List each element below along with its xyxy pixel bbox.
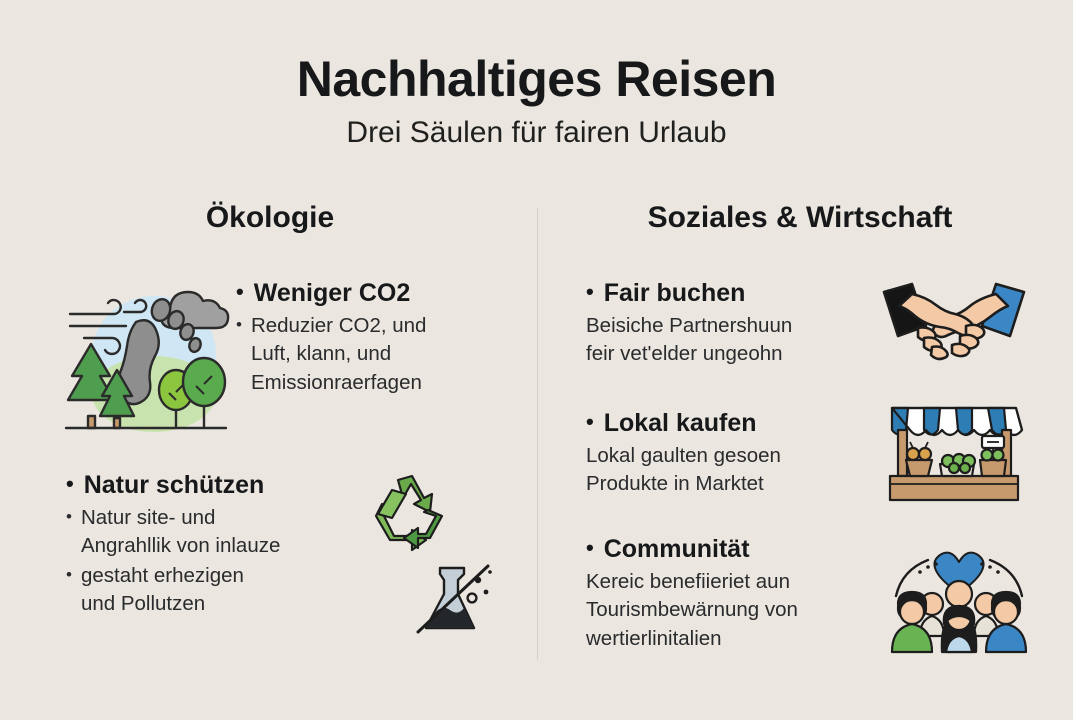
block-communitaet: • Communität Kereic benefiieriet aun Tou… — [586, 534, 886, 654]
list-item-text: Kereic benefiieriet aun Tourismbewärnung… — [586, 568, 798, 653]
bullet-icon: • — [66, 562, 72, 588]
no-pollution-flask-illustration — [412, 558, 498, 644]
list-item: Lokal gaulten gesoen Produkte in Marktet — [586, 442, 876, 499]
column-social-economy: Soziales & Wirtschaft — [560, 200, 1060, 244]
bullet-icon: • — [66, 504, 72, 530]
block-title-text: Fair buchen — [604, 278, 746, 308]
column-heading-social-economy: Soziales & Wirtschaft — [560, 200, 1060, 236]
block-title-fair-buchen: • Fair buchen — [586, 278, 876, 308]
list-item-text: Natur site- und Angrahllik von inlauze — [81, 504, 280, 561]
bullet-icon: • — [66, 473, 74, 495]
handshake-illustration — [878, 276, 1030, 366]
block-title-text: Natur schützen — [84, 470, 265, 500]
sub-list-fair-buchen: Beisiche Partnershuun feir vet'elder ung… — [586, 312, 876, 369]
list-item: Beisiche Partnershuun feir vet'elder ung… — [586, 312, 876, 369]
block-title-text: Lokal kaufen — [604, 408, 757, 438]
block-title-text: Communität — [604, 534, 750, 564]
list-item-text: Lokal gaulten gesoen Produkte in Marktet — [586, 442, 781, 499]
bullet-icon: • — [236, 281, 244, 303]
carbon-footprint-nature-illustration — [62, 278, 230, 438]
bullet-icon: • — [586, 411, 594, 433]
recycling-symbol-illustration — [362, 472, 462, 562]
block-title-lokal-kaufen: • Lokal kaufen — [586, 408, 876, 438]
bullet-icon: • — [586, 281, 594, 303]
block-title-communitaet: • Communität — [586, 534, 886, 564]
sub-list-lokal-kaufen: Lokal gaulten gesoen Produkte in Marktet — [586, 442, 876, 499]
block-fair-buchen: • Fair buchen Beisiche Partnershuun feir… — [586, 278, 876, 370]
header: Nachhaltiges Reisen Drei Säulen für fair… — [0, 52, 1073, 149]
bullet-icon: • — [586, 537, 594, 559]
sub-list-natur-schuetzen: • Natur site- und Angrahllik von inlauze… — [66, 504, 366, 618]
infographic-canvas: Nachhaltiges Reisen Drei Säulen für fair… — [0, 0, 1073, 720]
list-item: • Natur site- und Angrahllik von inlauze — [66, 504, 366, 561]
block-lokal-kaufen: • Lokal kaufen Lokal gaulten gesoen Prod… — [586, 408, 876, 500]
list-item: Kereic benefiieriet aun Tourismbewärnung… — [586, 568, 886, 653]
list-item: • Reduzier CO2, und Luft, klann, und Emi… — [236, 312, 496, 397]
list-item-text: Reduzier CO2, und Luft, klann, und Emiss… — [251, 312, 426, 397]
column-ecology: Ökologie — [40, 200, 530, 244]
sub-list-communitaet: Kereic benefiieriet aun Tourismbewärnung… — [586, 568, 886, 653]
column-divider — [537, 208, 538, 660]
list-item-text: gestaht erhezigen und Pollutzen — [81, 562, 244, 619]
block-title-text: Weniger CO2 — [254, 278, 411, 308]
bullet-icon: • — [236, 312, 242, 338]
list-item: • gestaht erhezigen und Pollutzen — [66, 562, 366, 619]
list-item-text: Beisiche Partnershuun feir vet'elder ung… — [586, 312, 792, 369]
column-heading-ecology: Ökologie — [40, 200, 530, 236]
block-natur-schuetzen: • Natur schützen • Natur site- und Angra… — [66, 470, 366, 619]
block-weniger-co2: • Weniger CO2 • Reduzier CO2, und Luft, … — [236, 278, 496, 398]
market-stall-illustration — [884, 402, 1024, 506]
sub-list-weniger-co2: • Reduzier CO2, und Luft, klann, und Emi… — [236, 312, 496, 397]
community-people-heart-illustration — [884, 532, 1034, 654]
block-title-natur-schuetzen: • Natur schützen — [66, 470, 366, 500]
page-subtitle: Drei Säulen für fairen Urlaub — [0, 116, 1073, 149]
block-title-weniger-co2: • Weniger CO2 — [236, 278, 496, 308]
page-title: Nachhaltiges Reisen — [0, 52, 1073, 106]
